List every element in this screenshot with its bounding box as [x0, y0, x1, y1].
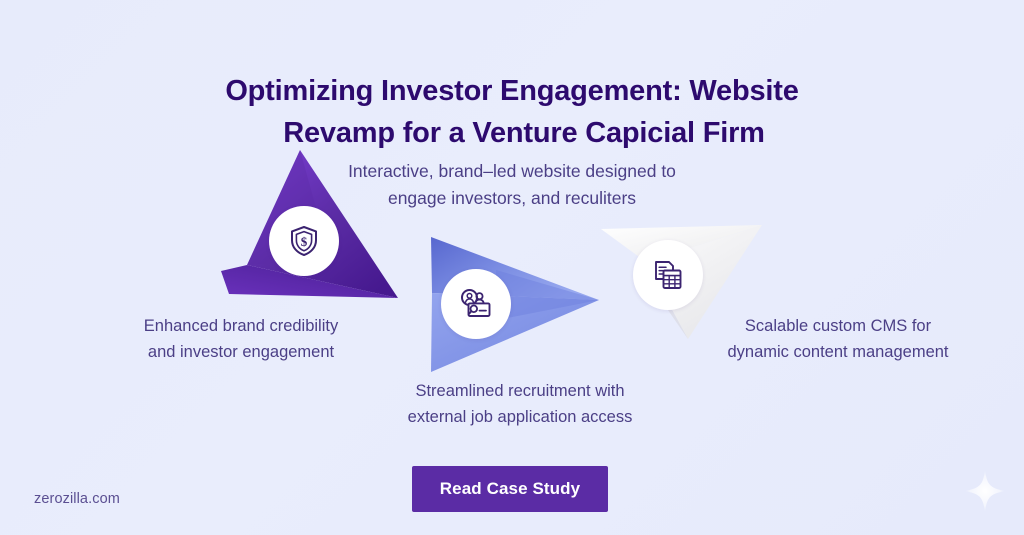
- page-subtitle: Interactive, brand–led website designed …: [0, 158, 1024, 212]
- poster-canvas: Optimizing Investor Engagement: Website …: [0, 0, 1024, 535]
- caption-3-line-1: Scalable custom CMS for: [690, 314, 986, 340]
- page-title-line-1: Optimizing Investor Engagement: Website: [0, 71, 1024, 112]
- caption-scalable-custom-cms: Scalable custom CMS for dynamic content …: [690, 314, 986, 365]
- caption-1-line-2: and investor engagement: [96, 340, 386, 366]
- people-search-card-icon: [459, 288, 493, 320]
- documents-spreadsheet-icon: [652, 259, 684, 291]
- arrow-recruitment-icon-badge: [441, 269, 511, 339]
- arrow-cms-icon-badge: [633, 240, 703, 310]
- svg-text:$: $: [301, 234, 308, 249]
- caption-enhanced-brand-credibility: Enhanced brand credibility and investor …: [96, 314, 386, 365]
- page-subtitle-line-2: engage investors, and reculiters: [0, 185, 1024, 212]
- caption-2-line-1: Streamlined recruitment with: [370, 379, 670, 405]
- caption-streamlined-recruitment: Streamlined recruitment with external jo…: [370, 379, 670, 430]
- shield-dollar-icon: $: [289, 225, 319, 257]
- caption-1-line-1: Enhanced brand credibility: [96, 314, 386, 340]
- caption-2-line-2: external job application access: [370, 405, 670, 431]
- caption-3-line-2: dynamic content management: [690, 340, 986, 366]
- page-title-line-2: Revamp for a Venture Capicial Firm: [0, 113, 1024, 154]
- four-point-star-sparkle-shape: [965, 470, 1005, 512]
- arrow-credibility-icon-badge: $: [269, 206, 339, 276]
- page-title: Optimizing Investor Engagement: Website …: [0, 71, 1024, 153]
- read-case-study-button[interactable]: Read Case Study: [412, 466, 608, 512]
- footer-website-url: zerozilla.com: [34, 491, 120, 507]
- page-subtitle-line-1: Interactive, brand–led website designed …: [0, 158, 1024, 185]
